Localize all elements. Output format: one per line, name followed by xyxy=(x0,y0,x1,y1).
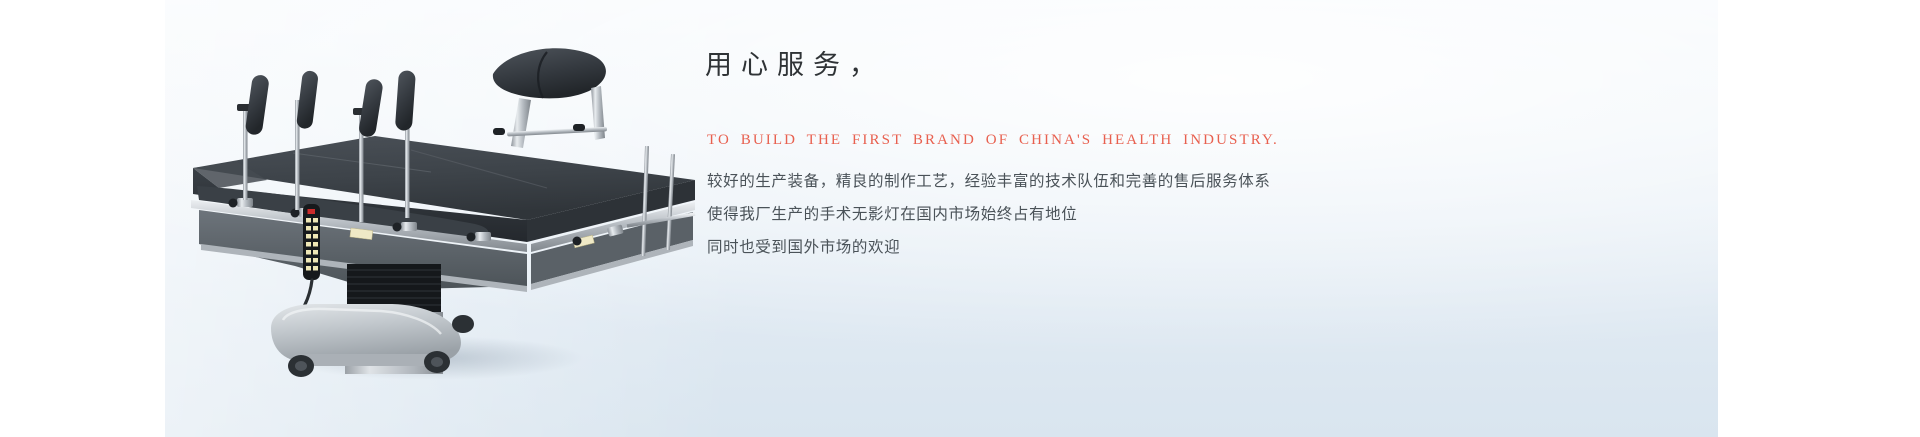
arm-pad-2 xyxy=(296,70,319,130)
rail-clamp-4 xyxy=(475,232,491,241)
body-copy: 较好的生产装备，精良的制作工艺，经验丰富的技术队伍和完善的售后服务体系 使得我厂… xyxy=(707,165,1407,264)
promo-banner: 用心服务， TO BUILD THE FIRST BRAND OF CHINA'… xyxy=(165,0,1718,437)
head-support-knob-right xyxy=(573,124,585,131)
body-line: 使得我厂生产的手术无影灯在国内市场始终占有地位 xyxy=(707,198,1407,231)
clamp-knob-3 xyxy=(393,223,402,232)
operating-table-image xyxy=(175,28,715,388)
clamp-knob-5 xyxy=(573,237,582,246)
body-line: 较好的生产装备，精良的制作工艺，经验丰富的技术队伍和完善的售后服务体系 xyxy=(707,165,1407,198)
copy-block: 用心服务， TO BUILD THE FIRST BRAND OF CHINA'… xyxy=(705,0,1665,437)
base-skirt xyxy=(293,354,443,366)
pendant-button-red xyxy=(308,209,316,214)
tagline-english: TO BUILD THE FIRST BRAND OF CHINA'S HEAL… xyxy=(707,130,1279,150)
head-support-pad xyxy=(493,48,606,98)
banner-stage: 用心服务， TO BUILD THE FIRST BRAND OF CHINA'… xyxy=(0,0,1920,437)
arm-pad-4 xyxy=(395,70,416,131)
body-line: 同时也受到国外市场的欢迎 xyxy=(707,231,1407,264)
accessory-post-2 xyxy=(295,70,319,210)
head-support-arm-left xyxy=(511,98,531,148)
rail-clamp-3 xyxy=(401,222,417,231)
arm-pad-3 xyxy=(358,78,384,138)
clamp-knob-1 xyxy=(229,199,238,208)
headline: 用心服务， xyxy=(705,48,885,82)
caster-rear-right xyxy=(452,315,474,333)
head-support-assembly xyxy=(493,48,607,148)
clamp-knob-4 xyxy=(467,233,476,242)
head-support-knob-left xyxy=(493,128,505,135)
